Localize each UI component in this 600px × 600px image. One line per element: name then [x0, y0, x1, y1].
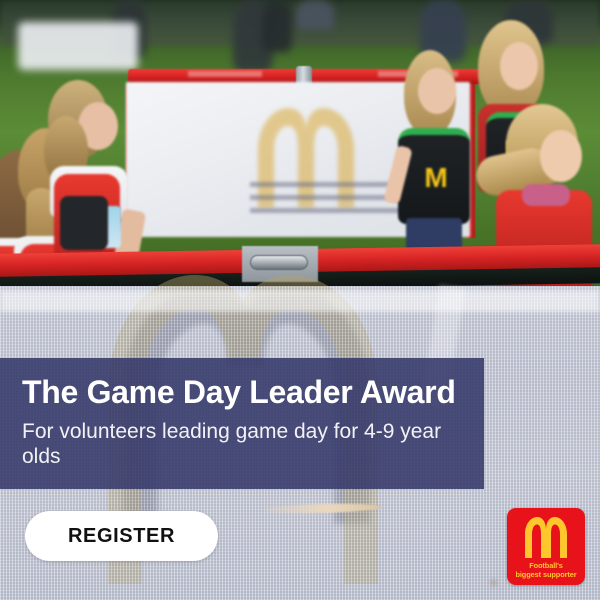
- background-figure: [262, 0, 292, 52]
- hero-photo: M M: [0, 0, 600, 300]
- sponsor-caption-line1: Football's: [507, 561, 585, 570]
- equipment-bag: [60, 196, 108, 250]
- advertisement-banner: M M: [0, 0, 600, 600]
- net-emblem-icon: ◉: [488, 574, 506, 590]
- net-highlight: [0, 290, 600, 312]
- sponsor-caption-line2: biggest supporter: [507, 570, 585, 579]
- page-title: The Game Day Leader Award: [22, 376, 472, 408]
- sponsor-badge[interactable]: Football's biggest supporter: [507, 508, 585, 585]
- mcdonalds-golden-arches-icon: [521, 515, 571, 559]
- page-subtitle: For volunteers leading game day for 4-9 …: [22, 420, 462, 470]
- background-van: [18, 22, 138, 70]
- register-button[interactable]: REGISTER: [25, 511, 218, 561]
- background-figure: [296, 0, 334, 30]
- sponsor-badge-caption: Football's biggest supporter: [507, 561, 585, 580]
